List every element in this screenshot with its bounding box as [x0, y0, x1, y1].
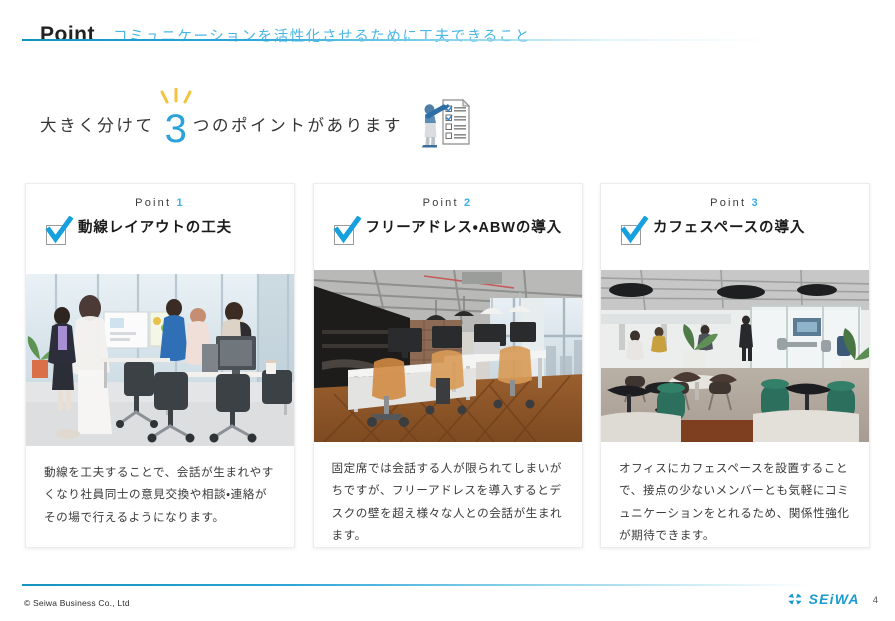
- card-eyebrow-number-3: 3: [752, 197, 760, 209]
- lead-number: 3: [165, 109, 187, 149]
- point-cards-row: Point 1 動線レイアウトの工夫: [25, 183, 870, 548]
- card-eyebrow-label-3: Point: [710, 197, 746, 209]
- brand-name: SEiWA: [809, 591, 860, 607]
- industrial-office-wood-floor-photo: [314, 270, 582, 442]
- checkbox-checked-icon: [332, 220, 358, 246]
- point-card-1[interactable]: Point 1 動線レイアウトの工夫: [25, 183, 295, 548]
- card-body-3: オフィスにカフェスペースを設置することで、接点の少ないメンバーとも気軽にコミュニ…: [601, 442, 869, 547]
- card-eyebrow-1: Point 1: [38, 198, 282, 209]
- slide-header: Point コミュニケーションを活性化させるために工夫できること: [0, 24, 895, 66]
- card-title-3: カフェスペースの導入: [653, 218, 805, 239]
- card-header-3: Point 3 カフェスペースの導入: [601, 184, 869, 270]
- person-with-checklist-icon: [419, 94, 473, 150]
- checkbox-checked-icon: [44, 220, 70, 246]
- lead-text-before: 大きく分けて: [40, 118, 155, 135]
- checkbox-checked-icon: [619, 220, 645, 246]
- card-eyebrow-label-1: Point: [135, 197, 171, 209]
- cafe-lounge-space-photo: [601, 270, 869, 442]
- sparkle-icon: [153, 88, 199, 110]
- card-title-row-3: カフェスペースの導入: [613, 218, 857, 246]
- card-eyebrow-3: Point 3: [613, 198, 857, 209]
- page-title: Point: [40, 24, 95, 45]
- card-body-2: 固定席では会話する人が限られてしまいがちですが、フリーアドレスを導入するとデスク…: [314, 442, 582, 547]
- lead-statement: 大きく分けて 3 つのポイントがあります: [40, 96, 473, 156]
- footer-brand: SEiWA 4: [786, 590, 878, 608]
- card-header-1: Point 1 動線レイアウトの工夫: [26, 184, 294, 274]
- lead-number-group: 3: [165, 103, 187, 149]
- slide-root: Point コミュニケーションを活性化させるために工夫できること 大きく分けて …: [0, 0, 895, 621]
- seiwa-pinwheel-logo-icon: [786, 590, 804, 608]
- lead-text-after: つのポイントがあります: [193, 118, 403, 135]
- card-eyebrow-number-2: 2: [464, 197, 472, 209]
- card-title-1: 動線レイアウトの工夫: [78, 218, 232, 239]
- card-eyebrow-number-1: 1: [177, 197, 185, 209]
- footer-copyright: © Seiwa Business Co., Ltd: [24, 598, 130, 608]
- card-body-1: 動線を工夫することで、会話が生まれやすくなり社員同士の意見交換や相談・連絡がその…: [26, 446, 294, 529]
- footer-divider: [22, 584, 878, 586]
- card-header-2: Point 2 フリーアドレス・ABWの導入: [314, 184, 582, 270]
- header-row: Point コミュニケーションを活性化させるために工夫できること: [0, 24, 895, 58]
- point-card-2[interactable]: Point 2 フリーアドレス・ABWの導入: [313, 183, 583, 548]
- open-office-people-walking-photo: [26, 274, 294, 446]
- header-divider: [22, 39, 878, 41]
- card-eyebrow-2: Point 2: [326, 198, 570, 209]
- card-eyebrow-label-2: Point: [423, 197, 459, 209]
- card-title-row-2: フリーアドレス・ABWの導入: [326, 218, 570, 246]
- page-number: 4: [873, 595, 878, 606]
- card-title-2: フリーアドレス・ABWの導入: [366, 218, 563, 239]
- page-subtitle: コミュニケーションを活性化させるために工夫できること: [113, 30, 531, 45]
- point-card-3[interactable]: Point 3 カフェスペースの導入: [600, 183, 870, 548]
- card-title-row-1: 動線レイアウトの工夫: [38, 218, 282, 246]
